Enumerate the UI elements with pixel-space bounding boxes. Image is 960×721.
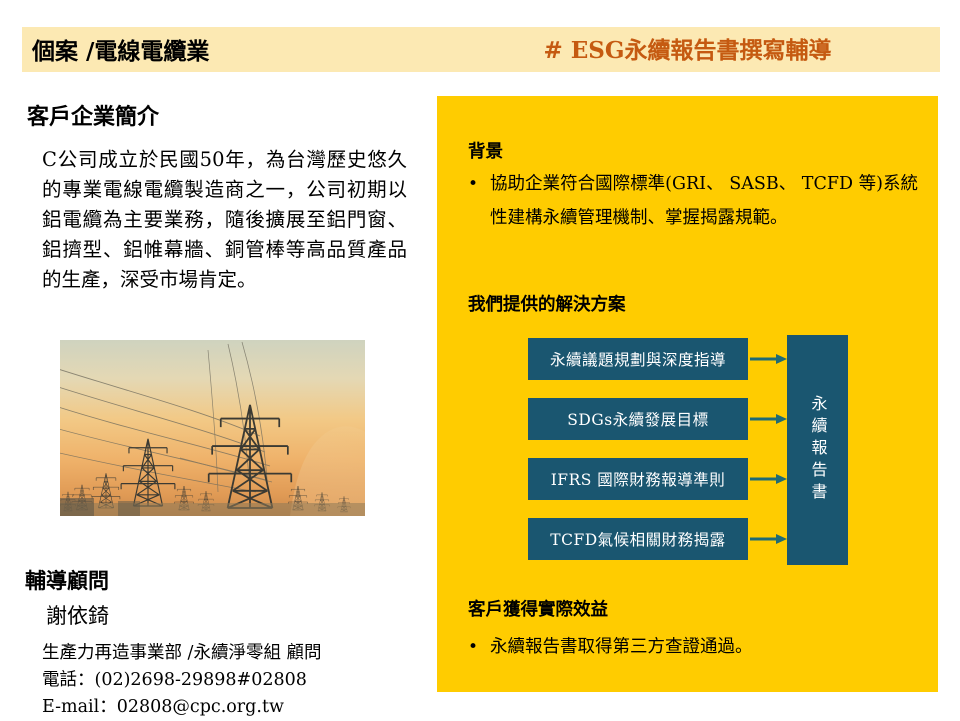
bullet-marker-icon: • <box>468 630 490 664</box>
power-transmission-tower-photo <box>60 340 365 516</box>
slide-canvas: 個案 /電線電纜業 # ESG永續報告書撰寫輔導 客戶企業簡介 C公司成立於民國… <box>0 0 960 720</box>
benefit-heading: 客戶獲得實際效益 <box>468 596 608 621</box>
page-title: # ESG永續報告書撰寫輔導 <box>437 31 938 65</box>
benefit-bullet-item: • 永續報告書取得第三方查證通過。 <box>468 630 918 664</box>
consultant-department: 生產力再造事業部 /永續淨零組 顧問 <box>42 640 432 667</box>
consultant-phone: 電話：(02)2698-29898#02808 <box>42 667 432 694</box>
arrow-right-icon-1 <box>750 353 787 365</box>
consultant-name: 謝依錡 <box>46 600 109 630</box>
client-intro-body: C公司成立於民國50年，為台灣歷史悠久的專業電線電纜製造商之一，公司初期以鋁電纜… <box>42 145 407 295</box>
client-intro-heading: 客戶企業簡介 <box>27 99 159 131</box>
benefit-bullet-text: 永續報告書取得第三方查證通過。 <box>490 630 918 664</box>
arrow-right-icon-4 <box>750 533 787 545</box>
diagram-box-3: IFRS 國際財務報導準則 <box>528 458 748 500</box>
diagram-box-2: SDGs永續發展目標 <box>528 398 748 440</box>
diagram-box-1: 永續議題規劃與深度指導 <box>528 338 748 380</box>
left-column: 客戶企業簡介 C公司成立於民國50年，為台灣歷史悠久的專業電線電纜製造商之一，公… <box>0 0 437 720</box>
consultant-email: E-mail：02808@cpc.org.tw <box>42 694 432 721</box>
diagram-output-box: 永續報告書 <box>787 335 848 565</box>
consultant-contact: 生產力再造事業部 /永續淨零組 顧問 電話：(02)2698-29898#028… <box>42 640 432 721</box>
diagram-box-4: TCFD氣候相關財務揭露 <box>528 518 748 560</box>
arrow-right-icon-2 <box>750 413 787 425</box>
consultant-heading: 輔導顧問 <box>25 565 109 595</box>
arrow-right-icon-3 <box>750 473 787 485</box>
